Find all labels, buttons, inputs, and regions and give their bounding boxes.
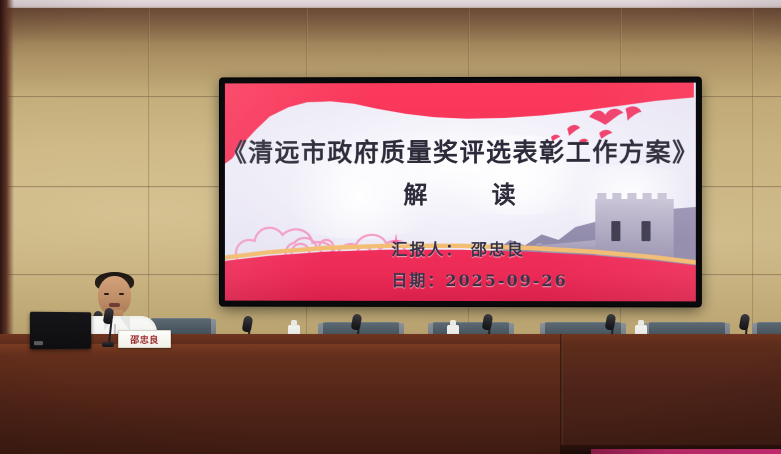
slide-title: 《清远市政府质量奖评选表彰工作方案》 [225, 133, 696, 169]
led-display-bezel: 《清远市政府质量奖评选表彰工作方案》 解 读 汇报人： 邵忠良 日期：2025-… [220, 78, 701, 307]
laptop [30, 312, 91, 350]
conference-room-photo: 《清远市政府质量奖评选表彰工作方案》 解 读 汇报人： 邵忠良 日期：2025-… [0, 0, 781, 454]
wall-shadow-edge [0, 0, 14, 340]
led-display-screen: 《清远市政府质量奖评选表彰工作方案》 解 读 汇报人： 邵忠良 日期：2025-… [225, 83, 696, 302]
collar-right [119, 316, 130, 331]
presenter-line: 汇报人： 邵忠良 [391, 236, 567, 260]
nameplate: 邵忠良 [118, 330, 171, 348]
mouth [109, 303, 120, 307]
floor-light-strip [591, 449, 781, 454]
laptop-logo [34, 341, 43, 345]
slide-text-block: 《清远市政府质量奖评选表彰工作方案》 解 读 汇报人： 邵忠良 日期：2025-… [225, 83, 696, 302]
date-line: 日期：2025-09-26 [391, 267, 567, 291]
slide-subtitle: 解 读 [375, 175, 543, 210]
nameplate-text: 邵忠良 [130, 333, 159, 346]
front-desk-panel [0, 344, 560, 454]
slide-meta-block: 汇报人： 邵忠良 日期：2025-09-26 [391, 236, 567, 291]
